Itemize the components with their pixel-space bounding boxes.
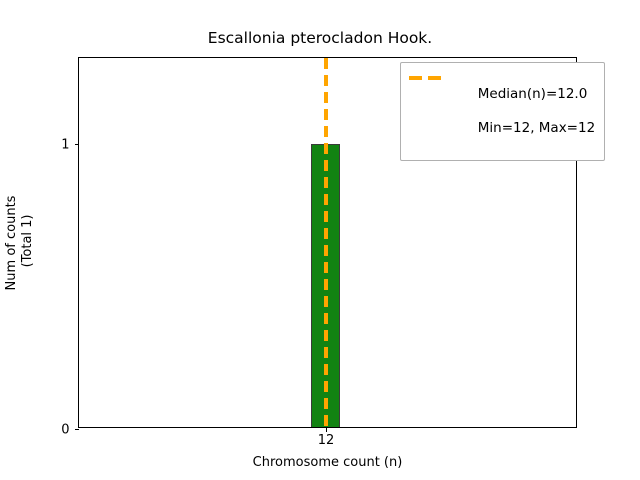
legend-label-median-line1: Median(n)=12.0: [478, 86, 588, 102]
page-title: Escallonia pterocladon Hook.: [0, 28, 640, 48]
legend: Median(n)=12.0 Min=12, Max=12: [400, 62, 605, 161]
median-line: [324, 58, 328, 427]
y-axis-label-container: Num of counts (Total 1): [0, 57, 40, 428]
y-tick-label-0: 0: [61, 424, 69, 437]
legend-label-median-line2: Min=12, Max=12: [478, 120, 595, 136]
x-tick-label-12: 12: [318, 434, 335, 448]
legend-label-median: Median(n)=12.0 Min=12, Max=12: [452, 69, 595, 154]
x-tick-mark-12: [326, 427, 327, 432]
y-axis-label: Num of counts (Total 1): [4, 195, 36, 290]
y-tick-mark-0: 0: [75, 429, 80, 430]
y-tick-label-1: 1: [61, 139, 69, 152]
legend-dash-segment-2: [428, 76, 441, 80]
x-axis-label: Chromosome count (n): [78, 455, 577, 470]
legend-dash-segment-1: [409, 76, 422, 80]
legend-dashed-line-icon: [409, 69, 443, 86]
chart-figure: Escallonia pterocladon Hook. Num of coun…: [0, 0, 640, 480]
